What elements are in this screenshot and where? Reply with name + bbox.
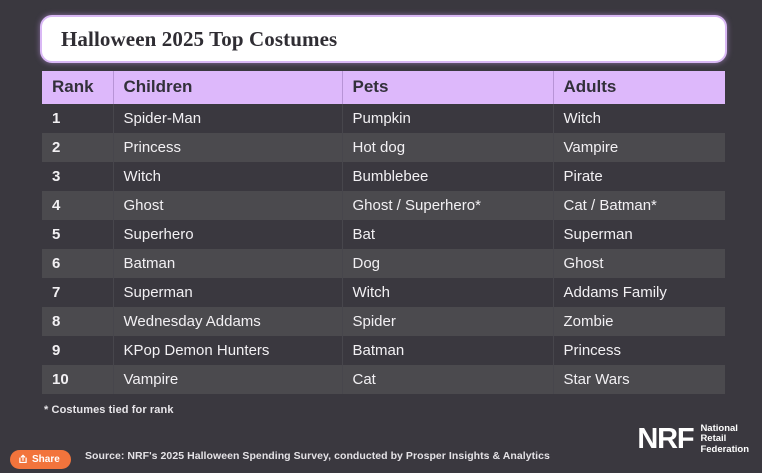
cell-pets: Dog bbox=[342, 249, 553, 278]
cell-adults: Pirate bbox=[553, 162, 725, 191]
table-header-row: Rank Children Pets Adults bbox=[42, 71, 725, 104]
cell-children: KPop Demon Hunters bbox=[113, 336, 342, 365]
cell-rank: 2 bbox=[42, 133, 113, 162]
cell-rank: 4 bbox=[42, 191, 113, 220]
cell-pets: Ghost / Superhero* bbox=[342, 191, 553, 220]
cell-pets: Batman bbox=[342, 336, 553, 365]
share-button-label: Share bbox=[32, 455, 60, 465]
costumes-table-container: Rank Children Pets Adults 1Spider-ManPum… bbox=[42, 71, 725, 394]
cell-rank: 5 bbox=[42, 220, 113, 249]
table-header: Rank Children Pets Adults bbox=[42, 71, 725, 104]
page-title: Halloween 2025 Top Costumes bbox=[42, 27, 337, 52]
table-row: 10VampireCatStar Wars bbox=[42, 365, 725, 394]
cell-rank: 7 bbox=[42, 278, 113, 307]
cell-rank: 8 bbox=[42, 307, 113, 336]
title-card: Halloween 2025 Top Costumes bbox=[40, 15, 727, 63]
table-row: 5SuperheroBatSuperman bbox=[42, 220, 725, 249]
cell-children: Spider-Man bbox=[113, 104, 342, 133]
table-row: 3WitchBumblebeePirate bbox=[42, 162, 725, 191]
table-row: 1Spider-ManPumpkinWitch bbox=[42, 104, 725, 133]
cell-pets: Bumblebee bbox=[342, 162, 553, 191]
cell-rank: 10 bbox=[42, 365, 113, 394]
cell-adults: Zombie bbox=[553, 307, 725, 336]
table-row: 7SupermanWitchAddams Family bbox=[42, 278, 725, 307]
cell-children: Wednesday Addams bbox=[113, 307, 342, 336]
table-row: 6BatmanDogGhost bbox=[42, 249, 725, 278]
nrf-logo-line-federation: Federation bbox=[700, 445, 749, 455]
cell-adults: Superman bbox=[553, 220, 725, 249]
table-row: 8Wednesday AddamsSpiderZombie bbox=[42, 307, 725, 336]
cell-children: Princess bbox=[113, 133, 342, 162]
source-attribution: Source: NRF's 2025 Halloween Spending Su… bbox=[85, 450, 550, 462]
cell-pets: Cat bbox=[342, 365, 553, 394]
cell-pets: Bat bbox=[342, 220, 553, 249]
share-button[interactable]: Share bbox=[10, 450, 71, 469]
cell-pets: Hot dog bbox=[342, 133, 553, 162]
cell-adults: Vampire bbox=[553, 133, 725, 162]
nrf-logo-fullname: National Retail Federation bbox=[700, 424, 749, 455]
share-export-icon bbox=[18, 451, 28, 469]
costumes-table: Rank Children Pets Adults 1Spider-ManPum… bbox=[42, 71, 725, 394]
cell-adults: Princess bbox=[553, 336, 725, 365]
table-row: 9KPop Demon HuntersBatmanPrincess bbox=[42, 336, 725, 365]
footnote-tied-rank: * Costumes tied for rank bbox=[44, 404, 174, 416]
column-header-adults: Adults bbox=[553, 71, 725, 104]
cell-adults: Star Wars bbox=[553, 365, 725, 394]
column-header-children: Children bbox=[113, 71, 342, 104]
cell-pets: Spider bbox=[342, 307, 553, 336]
infographic-canvas: Halloween 2025 Top Costumes Rank Childre… bbox=[0, 0, 762, 473]
cell-adults: Addams Family bbox=[553, 278, 725, 307]
table-row: 4GhostGhost / Superhero*Cat / Batman* bbox=[42, 191, 725, 220]
cell-adults: Ghost bbox=[553, 249, 725, 278]
cell-children: Ghost bbox=[113, 191, 342, 220]
cell-pets: Witch bbox=[342, 278, 553, 307]
table-row: 2PrincessHot dogVampire bbox=[42, 133, 725, 162]
nrf-logo-line-retail: Retail bbox=[700, 434, 749, 444]
cell-children: Superhero bbox=[113, 220, 342, 249]
cell-pets: Pumpkin bbox=[342, 104, 553, 133]
column-header-rank: Rank bbox=[42, 71, 113, 104]
column-header-pets: Pets bbox=[342, 71, 553, 104]
cell-adults: Cat / Batman* bbox=[553, 191, 725, 220]
cell-adults: Witch bbox=[553, 104, 725, 133]
nrf-logo: NRF National Retail Federation bbox=[637, 424, 749, 455]
cell-children: Batman bbox=[113, 249, 342, 278]
nrf-wordmark: NRF bbox=[637, 425, 693, 454]
cell-rank: 6 bbox=[42, 249, 113, 278]
table-body: 1Spider-ManPumpkinWitch2PrincessHot dogV… bbox=[42, 104, 725, 394]
cell-children: Witch bbox=[113, 162, 342, 191]
cell-rank: 9 bbox=[42, 336, 113, 365]
cell-children: Vampire bbox=[113, 365, 342, 394]
cell-rank: 3 bbox=[42, 162, 113, 191]
cell-children: Superman bbox=[113, 278, 342, 307]
cell-rank: 1 bbox=[42, 104, 113, 133]
